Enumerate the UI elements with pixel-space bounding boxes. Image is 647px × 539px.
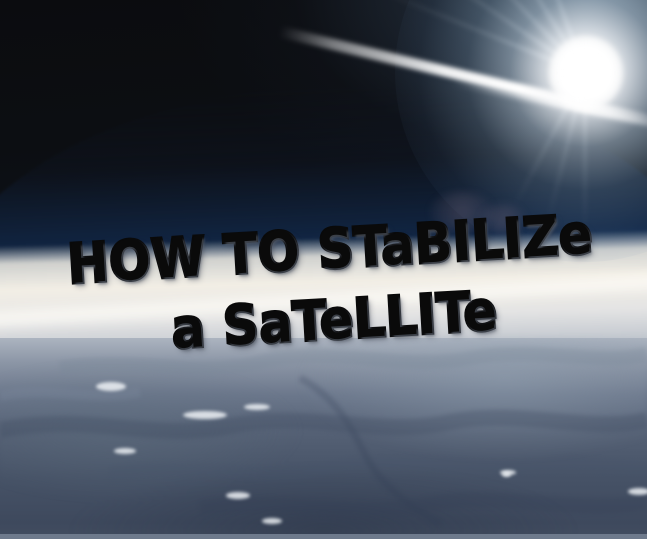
cloud-speck [183, 411, 227, 419]
cloud-speck [502, 472, 511, 477]
cloud-speck [262, 518, 282, 524]
bottom-strip [0, 534, 647, 539]
earth-terrain-detail [0, 338, 647, 539]
cloud-speck [96, 382, 126, 391]
cloud-speck [244, 404, 270, 410]
image-canvas: HOW TO STaBILIZe a SaTeLLITe [0, 0, 647, 539]
cloud-speck [226, 492, 250, 499]
lens-flare-ghost [480, 204, 526, 234]
terrain-features-svg [0, 338, 647, 539]
cloud-speck [114, 448, 136, 454]
cloud-speck [628, 488, 647, 495]
